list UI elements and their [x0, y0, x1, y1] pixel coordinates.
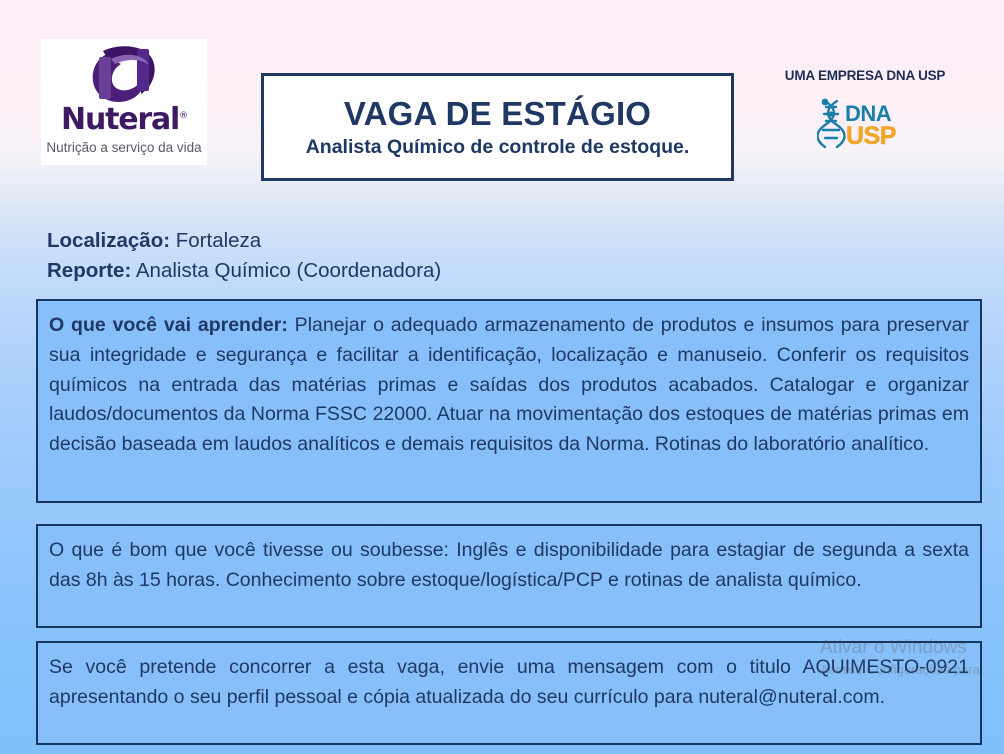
page-subtitle: Analista Químico de controle de estoque.: [306, 136, 690, 158]
nuteral-wordmark: Nuteral®: [41, 105, 207, 135]
info-block: Localização: Fortaleza Reporte: Analista…: [47, 226, 441, 286]
nuteral-brand-name: Nuteral: [61, 102, 179, 137]
partner-caption: UMA EMPRESA DNA USP: [760, 68, 970, 83]
location-value: Fortaleza: [176, 229, 261, 252]
dna-helix-icon: DNA USP: [817, 97, 913, 149]
learn-lead: O que você vai aprender:: [49, 314, 288, 336]
slide-canvas: Nuteral® Nutrição a serviço da vida VAGA…: [0, 0, 1004, 754]
nuteral-monogram-icon: [41, 41, 207, 111]
location-label: Localização:: [47, 229, 170, 252]
nice-to-have-box: O que é bom que você tivesse ou soubesse…: [36, 524, 982, 628]
learn-paragraph: O que você vai aprender: Planejar o adeq…: [49, 311, 969, 460]
nuteral-tagline: Nutrição a serviço da vida: [41, 141, 207, 155]
registered-mark-icon: ®: [179, 111, 187, 121]
report-label: Reporte:: [47, 259, 131, 282]
partner-block: UMA EMPRESA DNA USP DNA USP: [760, 68, 970, 149]
report-value: Analista Químico (Coordenadora): [136, 259, 441, 282]
nuteral-logo: Nuteral® Nutrição a serviço da vida: [41, 39, 207, 165]
nice-to-have-paragraph: O que é bom que você tivesse ou soubesse…: [49, 536, 969, 596]
dna-usp-logo: DNA USP: [760, 97, 970, 149]
title-box: VAGA DE ESTÁGIO Analista Químico de cont…: [261, 73, 734, 181]
report-line: Reporte: Analista Químico (Coordenadora): [47, 256, 441, 286]
svg-text:USP: USP: [846, 122, 896, 149]
learn-box: O que você vai aprender: Planejar o adeq…: [36, 299, 982, 503]
apply-paragraph: Se você pretende concorrer a esta vaga, …: [49, 653, 969, 713]
page-title: VAGA DE ESTÁGIO: [344, 95, 651, 133]
location-line: Localização: Fortaleza: [47, 226, 441, 256]
apply-box: Se você pretende concorrer a esta vaga, …: [36, 641, 982, 745]
